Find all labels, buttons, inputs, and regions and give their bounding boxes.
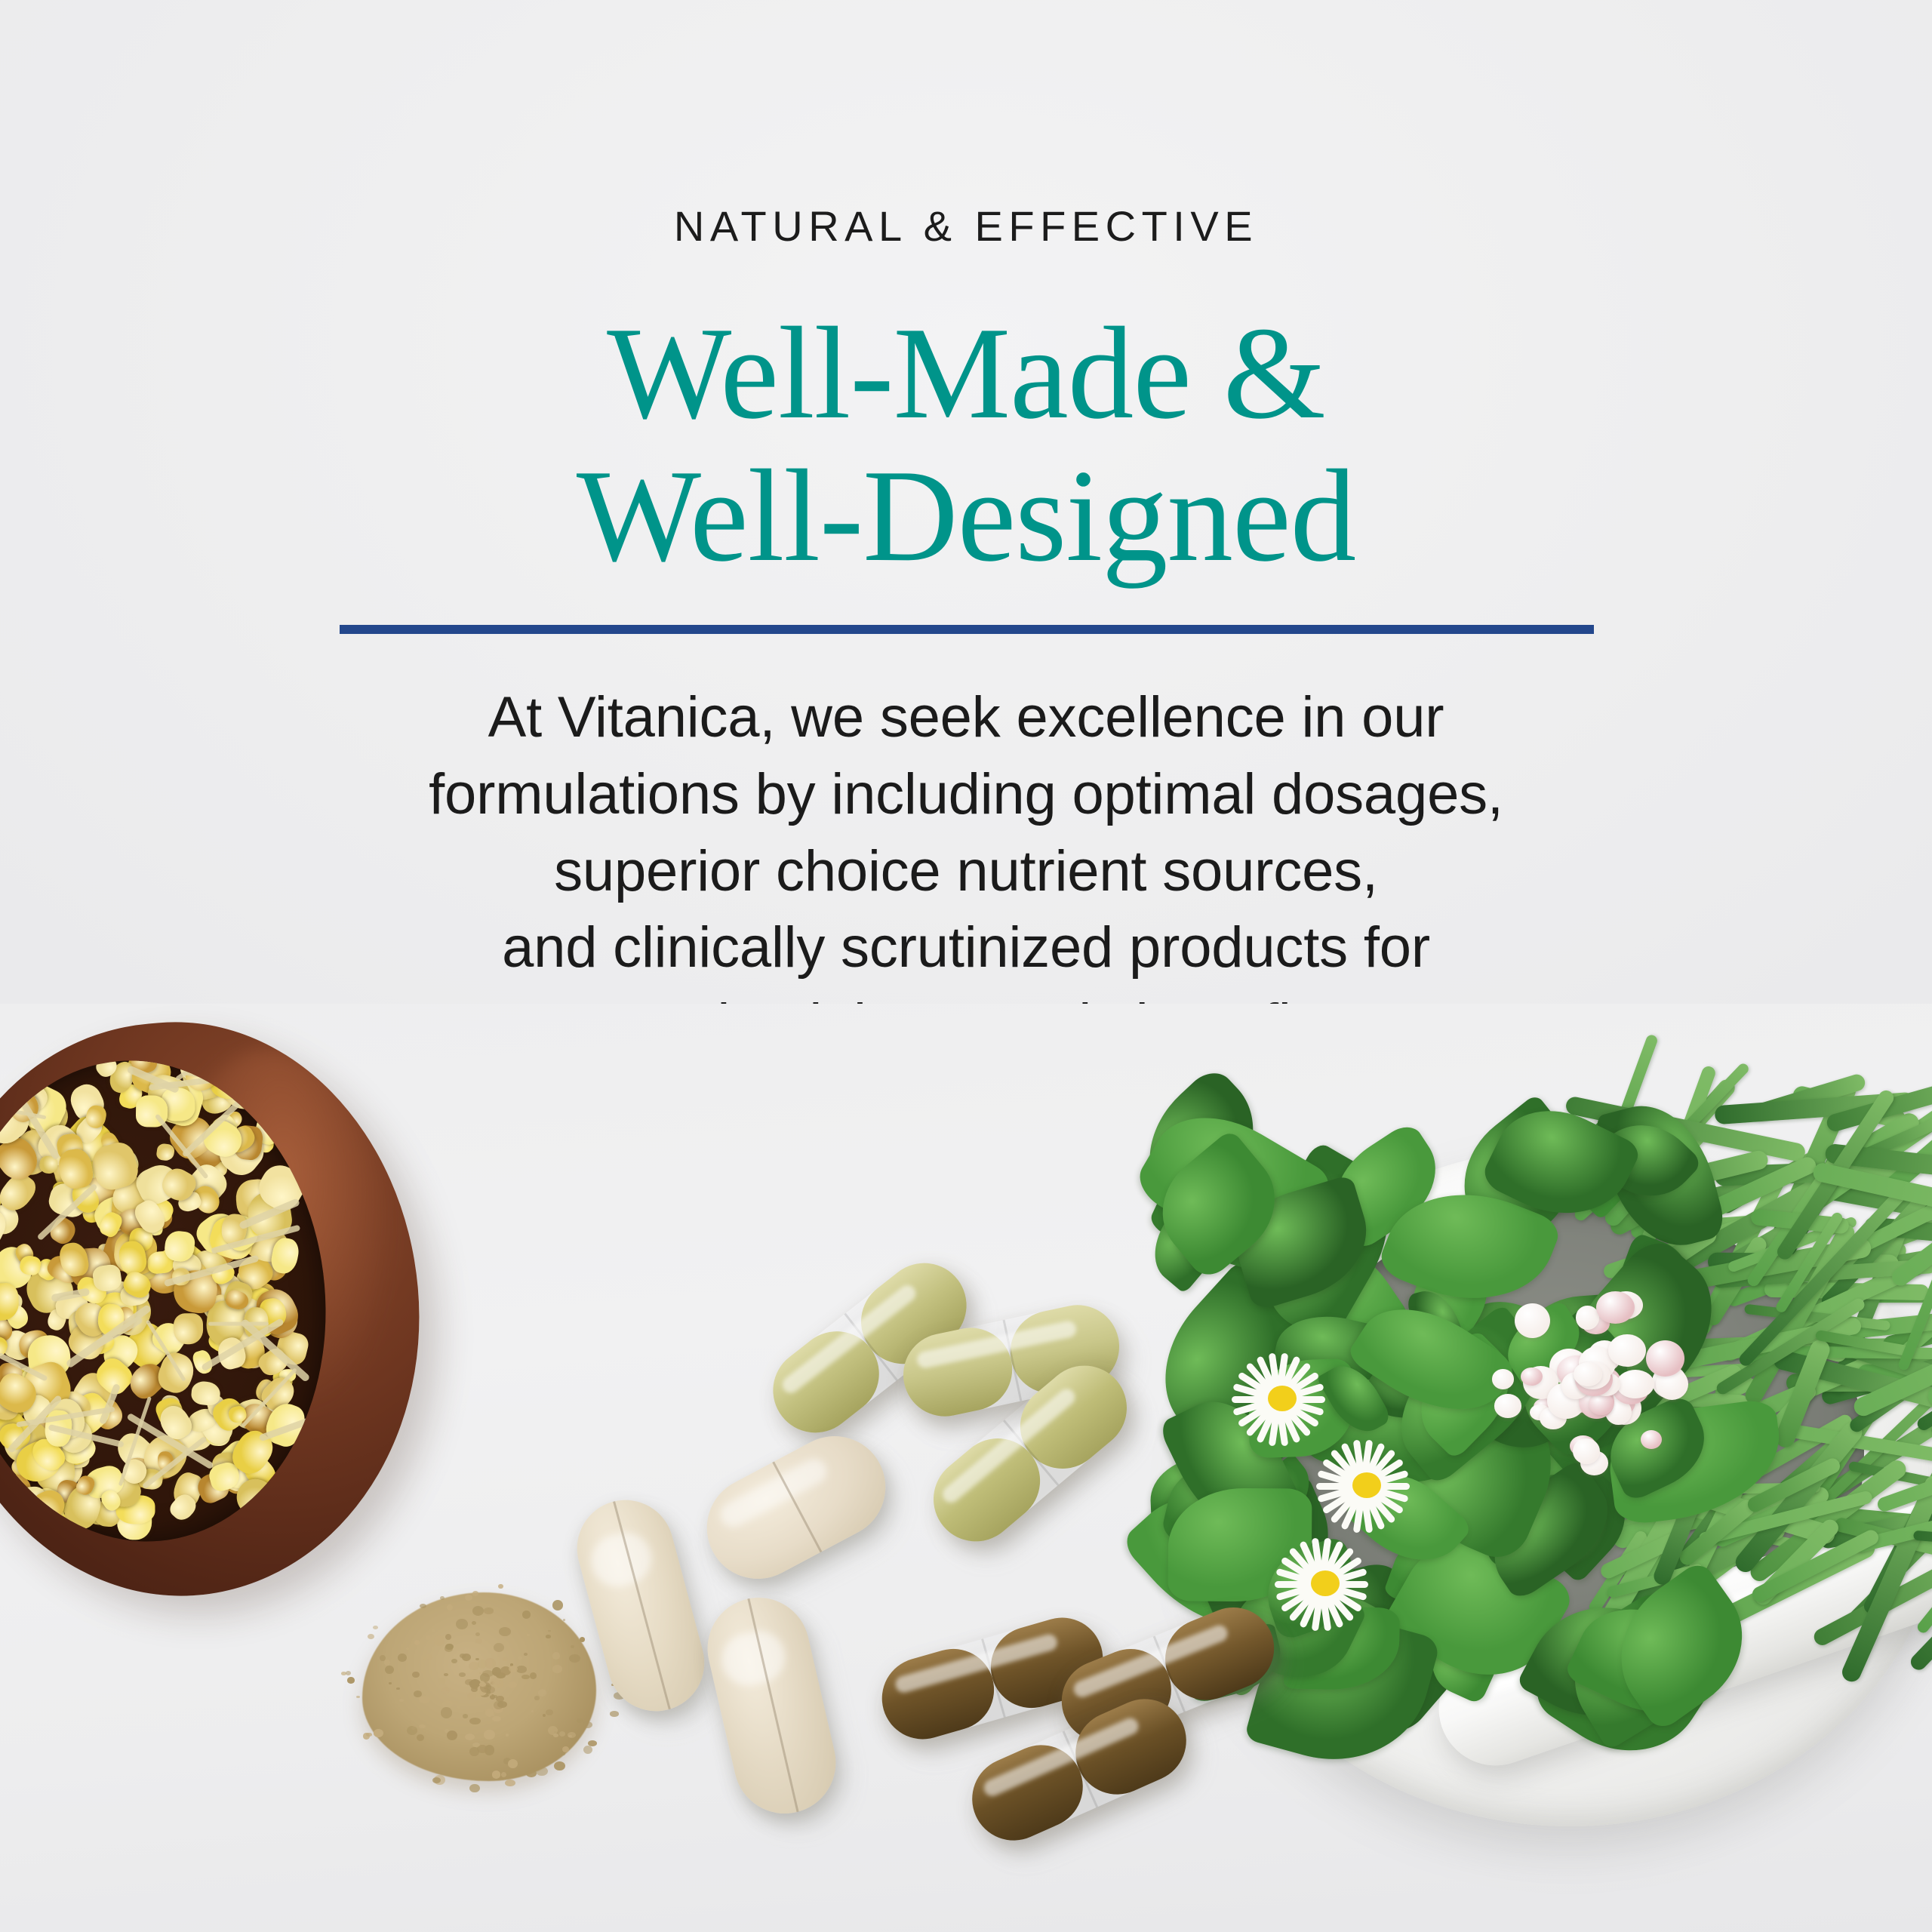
headline-line-2: Well-Designed: [0, 445, 1932, 587]
dried-flower: [277, 1487, 309, 1521]
pink-floret: [1515, 1303, 1550, 1338]
powder-speck: [518, 1656, 522, 1660]
pink-flower-cluster: [1483, 1281, 1709, 1500]
headline-line-1: Well-Made &: [607, 300, 1325, 446]
powder-speck: [412, 1672, 420, 1678]
eyebrow-label: NATURAL & EFFECTIVE: [0, 205, 1932, 248]
body-line-3: superior choice nutrient sources,: [0, 833, 1932, 910]
pink-floret: [1521, 1367, 1543, 1386]
powder-speck: [389, 1682, 391, 1684]
powder-speck: [580, 1637, 585, 1641]
powder-speck: [441, 1707, 453, 1718]
pink-floret: [1573, 1438, 1599, 1464]
powder-speck: [571, 1645, 574, 1648]
page-title: Well-Made & Well-Designed: [0, 302, 1932, 587]
body-line-2: formulations by including optimal dosage…: [0, 756, 1932, 833]
powder-speck: [484, 1730, 495, 1740]
powder-speck: [420, 1604, 426, 1608]
pink-floret: [1494, 1394, 1522, 1418]
powder-speck: [374, 1729, 383, 1737]
pink-floret: [1646, 1340, 1684, 1377]
pink-floret: [1608, 1334, 1646, 1367]
powder-speck: [347, 1677, 355, 1683]
powder-speck: [554, 1761, 565, 1771]
powder-speck: [563, 1619, 566, 1620]
powder-speck: [346, 1671, 351, 1675]
powder-speck: [527, 1634, 530, 1636]
flower-stem: [208, 1321, 269, 1326]
powder-speck: [463, 1714, 468, 1718]
powder-speck: [469, 1747, 479, 1756]
body-line-4: and clinically scrutinized products for: [0, 909, 1932, 986]
powder-speck: [505, 1780, 515, 1786]
daisy-flower: [1272, 1528, 1385, 1641]
powder-speck: [568, 1732, 576, 1738]
powder-speck: [368, 1634, 374, 1639]
daisy-center: [1268, 1386, 1297, 1411]
powder-speck: [465, 1595, 472, 1601]
daisy-flower: [1313, 1430, 1426, 1543]
tablet-highlight: [586, 1527, 657, 1592]
powder-speck: [522, 1611, 531, 1619]
powder-speck: [479, 1672, 481, 1674]
powder-speck: [548, 1726, 558, 1735]
dried-flower: [156, 1143, 176, 1162]
powder-speck: [546, 1709, 553, 1715]
powder-speck: [356, 1696, 360, 1698]
pink-floret: [1492, 1369, 1514, 1389]
powder-speck: [485, 1745, 495, 1755]
tablet-score-line: [613, 1501, 671, 1709]
powder-speck: [583, 1721, 592, 1728]
powder-speck: [536, 1767, 548, 1776]
powder-speck: [469, 1681, 472, 1684]
powder-speck: [543, 1714, 546, 1717]
powder-speck: [583, 1746, 592, 1754]
powder-speck: [398, 1654, 407, 1662]
powder-speck: [610, 1711, 619, 1716]
powder-speck: [552, 1600, 563, 1610]
daisy-center: [1352, 1472, 1381, 1498]
powder-speck: [373, 1626, 378, 1629]
daisy-center: [1311, 1571, 1340, 1596]
powder-speck: [506, 1734, 509, 1737]
powder-speck: [561, 1752, 565, 1755]
powder-speck: [419, 1696, 430, 1703]
pink-floret: [1596, 1291, 1635, 1324]
powder-speck: [426, 1635, 430, 1640]
dried-flower: [191, 1380, 221, 1406]
pink-floret: [1574, 1362, 1603, 1386]
powder-speck: [472, 1606, 484, 1616]
powder-speck: [538, 1689, 546, 1696]
powder-speck: [459, 1672, 466, 1677]
powder-speck: [526, 1770, 537, 1777]
powder-speck: [366, 1733, 371, 1737]
powder-speck: [456, 1619, 468, 1629]
powder-speck: [380, 1655, 386, 1661]
powder-speck: [492, 1770, 500, 1778]
powder-speck: [419, 1724, 425, 1729]
powder-speck: [498, 1584, 503, 1589]
pink-floret: [1617, 1370, 1654, 1398]
powder-speck: [531, 1710, 534, 1712]
powder-speck: [399, 1699, 404, 1702]
powder-speck: [460, 1654, 465, 1658]
body-line-1: At Vitanica, we seek excellence in our: [0, 679, 1932, 756]
powder-speck: [469, 1784, 480, 1792]
powder-speck: [485, 1686, 495, 1694]
powder-speck: [569, 1654, 580, 1663]
powder-speck: [465, 1734, 475, 1740]
powder-speck: [501, 1772, 506, 1777]
powder-speck: [524, 1653, 528, 1656]
dried-flower: [173, 1313, 203, 1344]
powder-speck: [434, 1635, 445, 1646]
tablet-highlight: [717, 1626, 790, 1691]
divider-rule: [340, 625, 1594, 634]
pink-floret: [1641, 1430, 1662, 1449]
powder-speck: [485, 1658, 496, 1669]
powder-speck: [552, 1665, 562, 1673]
powder-speck: [534, 1696, 540, 1700]
powder-speck: [562, 1746, 569, 1752]
powder-speck: [546, 1635, 550, 1638]
powder-speck: [384, 1660, 390, 1665]
powder-speck: [438, 1678, 445, 1684]
powder-speck: [509, 1666, 518, 1673]
powder-speck: [494, 1643, 504, 1652]
powder-speck: [432, 1629, 435, 1632]
powder-speck: [457, 1706, 461, 1709]
product-photo: [0, 1004, 1932, 1932]
powder-speck: [467, 1693, 476, 1700]
tablet-score-line: [747, 1598, 798, 1812]
powder-speck: [492, 1716, 501, 1721]
powder-speck: [484, 1607, 494, 1614]
powder-speck: [577, 1718, 583, 1723]
powder-speck: [516, 1666, 526, 1673]
powder-speck: [552, 1652, 560, 1660]
marketing-banner: NATURAL & EFFECTIVE Well-Made & Well-Des…: [0, 0, 1932, 1932]
